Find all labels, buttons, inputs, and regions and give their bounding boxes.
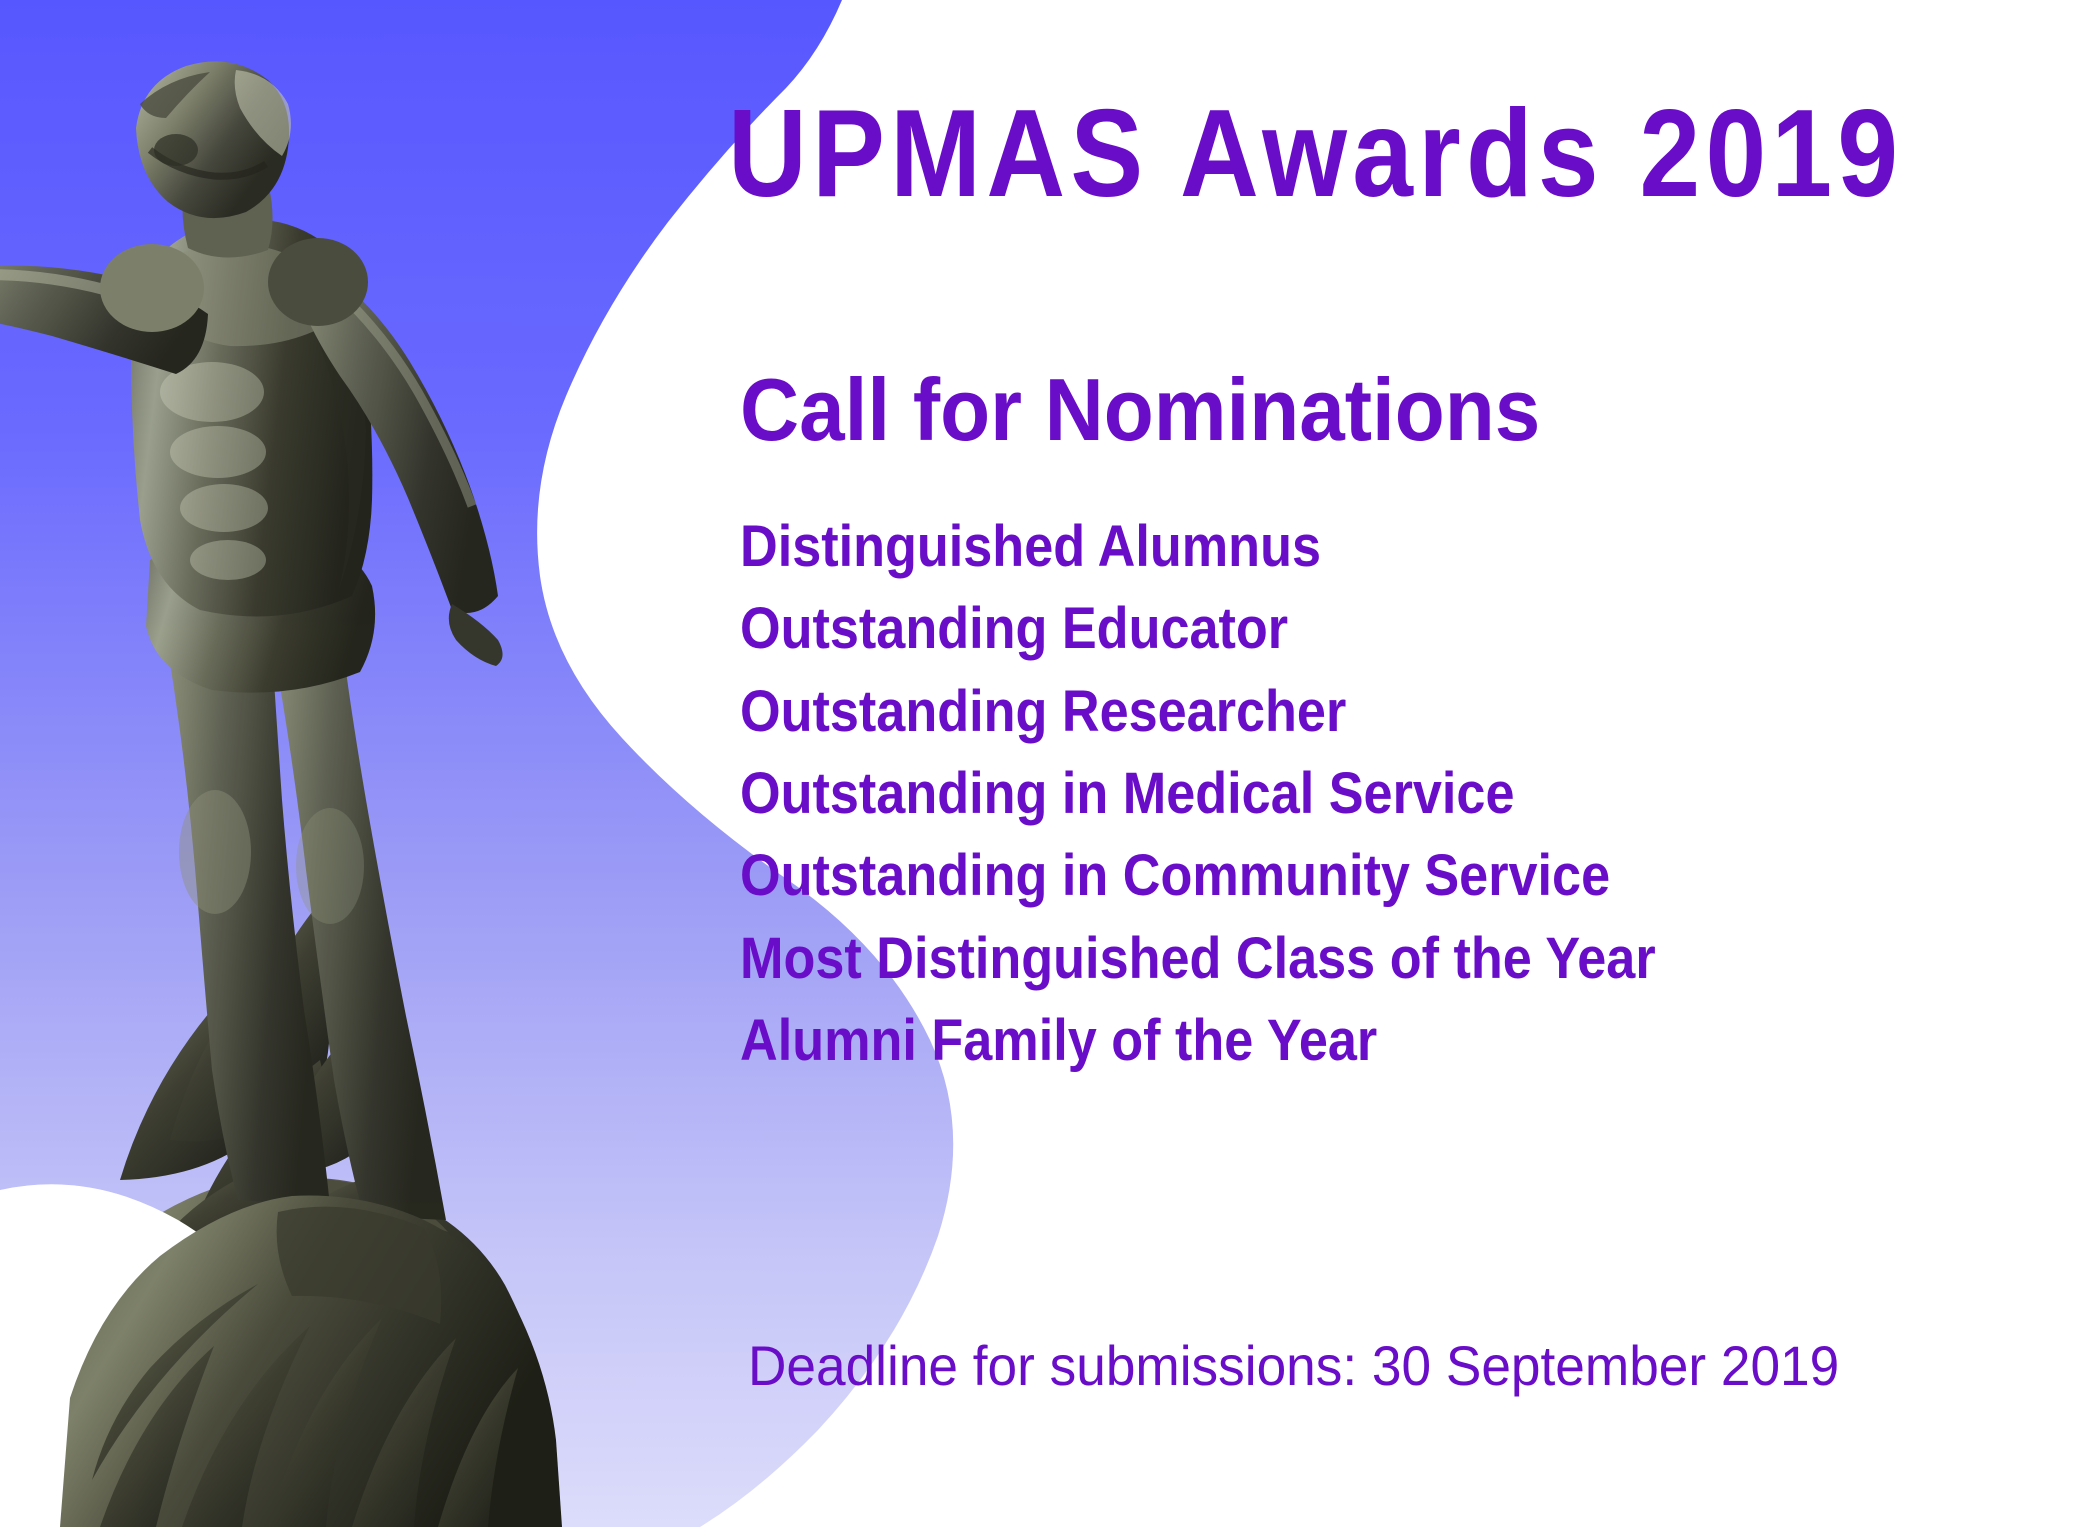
statue-left-shoulder: [100, 244, 204, 332]
award-item: Outstanding in Community Service: [740, 835, 1656, 917]
award-item: Most Distinguished Class of the Year: [740, 918, 1656, 1000]
page-title: UPMAS Awards 2019: [728, 92, 1903, 216]
statue-ear: [154, 134, 198, 166]
award-item: Distinguished Alumnus: [740, 506, 1656, 588]
poster-subtitle: Call for Nominations: [740, 366, 1540, 454]
poster-canvas: UPMAS Awards 2019 Call for Nominations D…: [0, 0, 2100, 1527]
award-item: Outstanding Educator: [740, 588, 1656, 670]
award-item: Alumni Family of the Year: [740, 1000, 1656, 1082]
deadline-text: Deadline for submissions: 30 September 2…: [748, 1338, 1839, 1394]
award-item: Outstanding Researcher: [740, 671, 1656, 753]
award-category-list: Distinguished Alumnus Outstanding Educat…: [740, 506, 1757, 1083]
award-item: Outstanding in Medical Service: [740, 753, 1656, 835]
statue-right-shoulder: [268, 238, 368, 326]
